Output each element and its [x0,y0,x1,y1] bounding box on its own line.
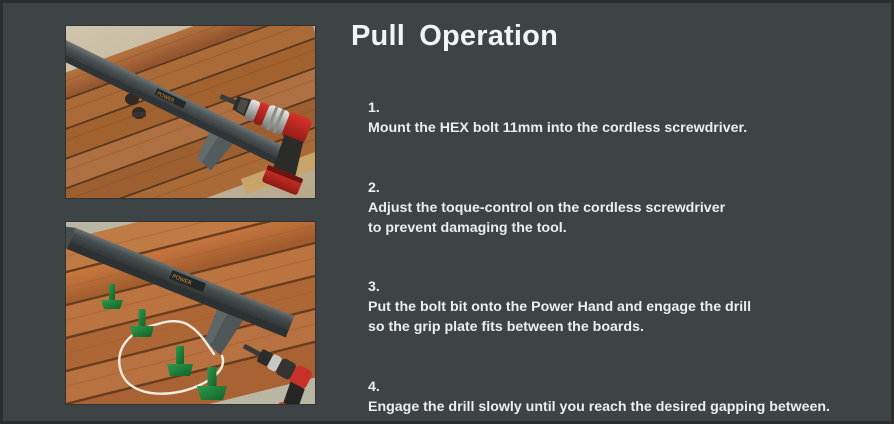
step-item-4: 4. Engage the drill slowly until you rea… [351,357,885,424]
step-text: Mount the HEX bolt 11mm into the cordles… [368,120,747,136]
page-title: Pull Operation [351,21,885,53]
step-number: 1. [368,100,380,116]
photo-deck-tool-with-green-spacers: POWER [65,221,316,405]
step-number: 4. [368,379,380,395]
photo-column: POWER [65,25,316,405]
step-number: 3. [368,279,380,295]
step-item-2: 2. Adjust the toque-control on the cordl… [351,157,885,238]
step-number: 2. [368,180,380,196]
instruction-slide: POWER [0,0,894,424]
photo-deck-tool-with-drill: POWER [65,25,316,199]
step-item-3: 3. Put the bolt bit onto the Power Hand … [351,257,885,338]
step-text: Engage the drill slowly until you reach … [368,399,830,424]
instruction-text-column: Pull Operation 1. Mount the HEX bolt 11m… [351,21,885,424]
step-text: Put the bolt bit onto the Power Hand and… [368,299,751,335]
deck-tool-spacers-illustration: POWER [66,222,315,404]
deck-tool-drill-illustration: POWER [66,26,315,198]
step-text: Adjust the toque-control on the cordless… [368,200,725,236]
step-item-1: 1. Mount the HEX bolt 11mm into the cord… [351,78,885,138]
